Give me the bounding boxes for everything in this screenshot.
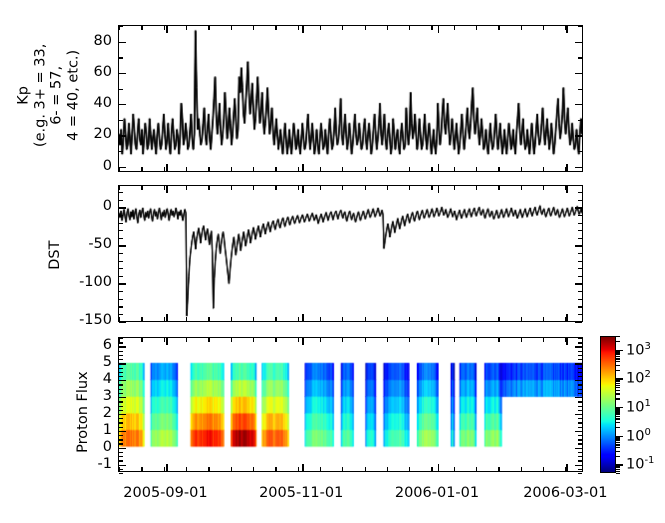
y-minor-tick	[119, 384, 123, 385]
x-major-tick	[166, 164, 167, 171]
y-minor-tick-right	[578, 359, 582, 360]
y-minor-tick	[119, 452, 123, 453]
y-minor-tick	[119, 120, 123, 121]
x-minor-tick-top	[431, 26, 432, 30]
y-minor-tick-right	[578, 355, 582, 356]
colorbar-minor-tick	[616, 393, 620, 394]
colorbar-minor-tick	[616, 387, 620, 388]
x-minor-tick-top	[409, 338, 410, 342]
colorbar-minor-tick	[616, 466, 620, 467]
x-minor-tick-top	[521, 338, 522, 342]
y-minor-tick-right	[578, 393, 582, 394]
y-major-tick	[119, 207, 126, 208]
x-minor-tick-top	[164, 186, 165, 190]
colorbar-minor-tick	[616, 411, 620, 412]
y-minor-tick-right	[578, 460, 582, 461]
y-major-tick-right	[575, 346, 582, 347]
y-minor-tick	[119, 223, 123, 224]
y-minor-tick-right	[578, 57, 582, 58]
y-major-tick-right	[575, 465, 582, 466]
x-minor-tick-top	[431, 338, 432, 342]
colorbar-minor-tick	[616, 351, 620, 352]
y-major-tick-right	[575, 321, 582, 322]
x-major-tick-top	[566, 26, 567, 33]
x-minor-tick-top	[141, 26, 142, 30]
colorbar-minor-tick	[616, 447, 620, 448]
x-minor-tick	[119, 467, 120, 471]
y-minor-tick-right	[578, 314, 582, 315]
y-minor-tick	[119, 372, 123, 373]
y-minor-tick-right	[578, 299, 582, 300]
x-minor-tick-top	[454, 26, 455, 30]
x-minor-tick-top	[387, 26, 388, 30]
y-major-tick	[119, 104, 126, 105]
colorbar-tick-exponent: 1	[644, 398, 650, 409]
colorbar-minor-tick	[616, 358, 620, 359]
x-minor-tick	[342, 467, 343, 471]
colorbar-major-tick	[616, 407, 623, 408]
x-minor-tick	[275, 317, 276, 321]
colorbar-minor-tick	[616, 365, 620, 366]
y-major-tick-right	[575, 245, 582, 246]
dst-series-canvas	[119, 186, 582, 321]
x-minor-tick	[454, 317, 455, 321]
y-minor-tick-right	[578, 261, 582, 262]
x-tick-label: 2006-03-01	[523, 486, 607, 501]
x-minor-tick	[320, 167, 321, 171]
x-minor-tick	[119, 317, 120, 321]
x-minor-tick-top	[208, 186, 209, 190]
y-minor-tick	[119, 230, 123, 231]
x-minor-tick-top	[119, 186, 120, 190]
x-major-tick-top	[566, 186, 567, 193]
y-minor-tick	[119, 435, 123, 436]
colorbar-minor-tick	[616, 352, 620, 353]
y-major-tick	[119, 431, 126, 432]
x-minor-tick	[521, 317, 522, 321]
y-minor-tick-right	[578, 268, 582, 269]
y-major-tick	[119, 321, 126, 322]
colorbar-minor-tick	[616, 422, 620, 423]
x-minor-tick	[253, 467, 254, 471]
x-minor-tick-top	[275, 186, 276, 190]
colorbar-minor-tick	[616, 416, 620, 417]
y-minor-tick	[119, 460, 123, 461]
x-minor-tick	[253, 167, 254, 171]
x-minor-tick	[498, 467, 499, 471]
colorbar-tick-label: 102	[626, 370, 651, 386]
colorbar-tick-exponent: 0	[644, 427, 650, 438]
x-major-tick-top	[438, 26, 439, 33]
y-major-tick	[119, 397, 126, 398]
y-minor-tick	[119, 439, 123, 440]
x-minor-tick	[431, 467, 432, 471]
x-minor-tick	[476, 317, 477, 321]
x-minor-tick	[476, 467, 477, 471]
y-minor-tick-right	[578, 452, 582, 453]
x-minor-tick	[365, 167, 366, 171]
x-minor-tick-top	[543, 186, 544, 190]
x-minor-tick	[320, 317, 321, 321]
x-minor-tick	[164, 467, 165, 471]
y-minor-tick-right	[578, 422, 582, 423]
dst-plot-panel	[118, 185, 583, 322]
y-minor-tick-right	[578, 338, 582, 339]
x-minor-tick-top	[409, 186, 410, 190]
kp-plot-panel	[118, 25, 583, 172]
y-minor-tick	[119, 291, 123, 292]
colorbar-tick-exponent: 3	[644, 341, 650, 352]
x-minor-tick-top	[365, 186, 366, 190]
x-minor-tick-top	[342, 26, 343, 30]
y-tick-label: -100	[66, 275, 112, 290]
y-minor-tick-right	[578, 120, 582, 121]
y-major-tick-right	[575, 414, 582, 415]
x-minor-tick	[387, 167, 388, 171]
y-minor-tick	[119, 89, 123, 90]
kp-series-canvas	[119, 26, 582, 171]
x-major-tick-top	[438, 186, 439, 193]
x-major-tick-top	[302, 338, 303, 345]
y-minor-tick-right	[578, 469, 582, 470]
x-minor-tick	[141, 317, 142, 321]
x-minor-tick	[431, 167, 432, 171]
y-minor-tick	[119, 422, 123, 423]
x-minor-tick	[342, 167, 343, 171]
x-tick-label: 2006-01-01	[395, 486, 479, 501]
y-minor-tick	[119, 368, 123, 369]
kp-axis-title-line-1: (e.g. 3+ = 33,	[32, 22, 49, 168]
y-minor-tick	[119, 306, 123, 307]
x-minor-tick-top	[298, 338, 299, 342]
y-major-tick	[119, 283, 126, 284]
y-minor-tick-right	[578, 192, 582, 193]
x-minor-tick	[208, 317, 209, 321]
colorbar-minor-tick	[616, 410, 620, 411]
colorbar-minor-tick	[616, 341, 620, 342]
x-minor-tick	[543, 317, 544, 321]
y-major-tick	[119, 73, 126, 74]
x-major-tick	[566, 164, 567, 171]
x-minor-tick	[342, 317, 343, 321]
x-minor-tick-top	[253, 186, 254, 190]
y-minor-tick	[119, 261, 123, 262]
colorbar-tick-mantissa: 10	[626, 457, 644, 473]
x-major-tick-top	[302, 26, 303, 33]
kp-axis-title-line-0: Kp	[16, 22, 33, 168]
y-minor-tick-right	[578, 427, 582, 428]
x-major-tick	[302, 464, 303, 471]
proton-flux-axis-title: Proton Flux	[75, 357, 91, 467]
y-minor-tick	[119, 192, 123, 193]
x-minor-tick-top	[543, 26, 544, 30]
colorbar-minor-tick	[616, 440, 620, 441]
x-minor-tick	[186, 467, 187, 471]
y-minor-tick-right	[578, 418, 582, 419]
x-minor-tick-top	[476, 338, 477, 342]
y-minor-tick-right	[578, 223, 582, 224]
y-minor-tick	[119, 401, 123, 402]
y-minor-tick-right	[578, 230, 582, 231]
y-minor-tick	[119, 215, 123, 216]
x-minor-tick-top	[498, 26, 499, 30]
x-major-tick-top	[166, 338, 167, 345]
x-minor-tick	[253, 317, 254, 321]
y-minor-tick	[119, 355, 123, 356]
y-minor-tick	[119, 351, 123, 352]
colorbar-minor-tick	[616, 467, 620, 468]
x-minor-tick	[298, 167, 299, 171]
x-minor-tick-top	[298, 186, 299, 190]
x-minor-tick	[231, 317, 232, 321]
y-major-tick	[119, 346, 126, 347]
y-minor-tick	[119, 151, 123, 152]
x-minor-tick	[365, 317, 366, 321]
x-minor-tick-top	[342, 338, 343, 342]
x-minor-tick-top	[342, 186, 343, 190]
y-minor-tick	[119, 276, 123, 277]
y-major-tick	[119, 380, 126, 381]
x-minor-tick	[498, 317, 499, 321]
y-minor-tick	[119, 57, 123, 58]
x-minor-tick	[231, 167, 232, 171]
colorbar-minor-tick	[616, 361, 620, 362]
y-minor-tick	[119, 314, 123, 315]
y-minor-tick	[119, 410, 123, 411]
y-minor-tick-right	[578, 456, 582, 457]
y-minor-tick	[119, 456, 123, 457]
x-minor-tick-top	[498, 186, 499, 190]
y-minor-tick-right	[578, 473, 582, 474]
x-minor-tick	[298, 317, 299, 321]
colorbar-tick-mantissa: 10	[626, 342, 644, 358]
colorbar-minor-tick	[616, 380, 620, 381]
x-major-tick	[438, 314, 439, 321]
x-major-tick-top	[566, 338, 567, 345]
x-minor-tick-top	[387, 338, 388, 342]
y-tick-label: -50	[66, 237, 112, 252]
y-minor-tick-right	[578, 406, 582, 407]
y-major-tick	[119, 42, 126, 43]
x-minor-tick-top	[387, 186, 388, 190]
x-minor-tick	[365, 467, 366, 471]
x-minor-tick	[275, 167, 276, 171]
y-minor-tick	[119, 342, 123, 343]
x-minor-tick	[141, 167, 142, 171]
x-major-tick	[566, 464, 567, 471]
x-minor-tick	[521, 167, 522, 171]
x-minor-tick-top	[231, 338, 232, 342]
colorbar-tick-exponent: -1	[644, 455, 654, 466]
x-minor-tick-top	[164, 338, 165, 342]
x-minor-tick	[186, 317, 187, 321]
x-minor-tick	[208, 167, 209, 171]
colorbar-minor-tick	[616, 336, 620, 337]
colorbar-major-tick	[616, 350, 623, 351]
y-major-tick-right	[575, 73, 582, 74]
x-minor-tick-top	[275, 338, 276, 342]
colorbar-minor-tick	[616, 427, 620, 428]
y-minor-tick	[119, 268, 123, 269]
y-minor-tick-right	[578, 200, 582, 201]
x-minor-tick	[298, 467, 299, 471]
y-minor-tick-right	[578, 384, 582, 385]
y-minor-tick	[119, 299, 123, 300]
x-minor-tick	[409, 167, 410, 171]
y-minor-tick-right	[578, 351, 582, 352]
x-major-tick-top	[166, 26, 167, 33]
y-minor-tick	[119, 443, 123, 444]
x-major-tick	[166, 464, 167, 471]
x-minor-tick-top	[320, 186, 321, 190]
x-minor-tick-top	[208, 338, 209, 342]
y-tick-label: 6	[66, 338, 112, 353]
y-tick-label: -150	[66, 313, 112, 328]
x-minor-tick-top	[231, 26, 232, 30]
x-minor-tick	[543, 467, 544, 471]
x-minor-tick-top	[119, 338, 120, 342]
x-minor-tick-top	[454, 338, 455, 342]
y-major-tick-right	[575, 363, 582, 364]
y-major-tick	[119, 245, 126, 246]
figure-canvas: 020406080 Kp (e.g. 3+ = 33, 6- = 57, 4 =…	[0, 0, 665, 523]
y-minor-tick-right	[578, 342, 582, 343]
x-minor-tick	[119, 167, 120, 171]
y-minor-tick	[119, 473, 123, 474]
x-minor-tick	[186, 167, 187, 171]
colorbar-tick-label: 103	[626, 342, 651, 358]
x-major-tick	[438, 464, 439, 471]
colorbar-major-tick	[616, 464, 623, 465]
y-minor-tick-right	[578, 26, 582, 27]
y-minor-tick-right	[578, 372, 582, 373]
y-major-tick	[119, 363, 126, 364]
y-minor-tick-right	[578, 89, 582, 90]
x-minor-tick	[498, 167, 499, 171]
x-minor-tick	[231, 467, 232, 471]
y-minor-tick-right	[578, 368, 582, 369]
x-minor-tick	[454, 467, 455, 471]
y-minor-tick	[119, 376, 123, 377]
x-minor-tick	[387, 317, 388, 321]
x-minor-tick	[543, 167, 544, 171]
y-minor-tick-right	[578, 376, 582, 377]
x-minor-tick-top	[521, 186, 522, 190]
colorbar-minor-tick	[616, 444, 620, 445]
colorbar-tick-mantissa: 10	[626, 428, 644, 444]
x-minor-tick-top	[253, 338, 254, 342]
colorbar-minor-tick	[616, 356, 620, 357]
x-minor-tick-top	[476, 186, 477, 190]
x-major-tick-top	[438, 338, 439, 345]
x-minor-tick-top	[186, 338, 187, 342]
x-major-tick	[302, 314, 303, 321]
colorbar-minor-tick	[616, 390, 620, 391]
y-minor-tick	[119, 418, 123, 419]
x-minor-tick-top	[141, 186, 142, 190]
y-major-tick-right	[575, 431, 582, 432]
x-major-tick	[566, 314, 567, 321]
x-minor-tick	[208, 467, 209, 471]
y-minor-tick	[119, 406, 123, 407]
colorbar-tick-label: 10-1	[626, 456, 654, 472]
x-minor-tick	[275, 467, 276, 471]
x-tick-label: 2005-11-01	[259, 486, 343, 501]
x-minor-tick	[387, 467, 388, 471]
kp-axis-title-line-2: 6- = 57,	[49, 22, 66, 168]
y-major-tick-right	[575, 135, 582, 136]
x-minor-tick-top	[454, 186, 455, 190]
y-major-tick	[119, 448, 126, 449]
colorbar-minor-tick	[616, 469, 620, 470]
x-minor-tick-top	[186, 26, 187, 30]
colorbar-gradient	[601, 337, 615, 472]
y-minor-tick-right	[578, 151, 582, 152]
colorbar-minor-tick	[616, 383, 620, 384]
x-major-tick	[166, 314, 167, 321]
x-minor-tick-top	[543, 338, 544, 342]
colorbar-minor-tick	[616, 456, 620, 457]
colorbar-minor-tick	[616, 354, 620, 355]
x-minor-tick-top	[431, 186, 432, 190]
x-minor-tick-top	[141, 338, 142, 342]
proton-flux-heatmap-canvas	[119, 338, 582, 471]
y-minor-tick-right	[578, 276, 582, 277]
x-minor-tick-top	[208, 26, 209, 30]
x-minor-tick-top	[476, 26, 477, 30]
y-major-tick-right	[575, 448, 582, 449]
colorbar-minor-tick	[616, 473, 620, 474]
colorbar-minor-tick	[616, 471, 620, 472]
x-minor-tick-top	[320, 338, 321, 342]
colorbar-major-tick	[616, 436, 623, 437]
x-minor-tick-top	[186, 186, 187, 190]
x-minor-tick-top	[498, 338, 499, 342]
colorbar-minor-tick	[616, 408, 620, 409]
x-minor-tick-top	[275, 26, 276, 30]
x-tick-label: 2005-09-01	[123, 486, 207, 501]
y-minor-tick-right	[578, 215, 582, 216]
x-minor-tick	[164, 167, 165, 171]
x-minor-tick-top	[298, 26, 299, 30]
colorbar-tick-label: 100	[626, 428, 651, 444]
colorbar-minor-tick	[616, 370, 620, 371]
x-minor-tick	[164, 317, 165, 321]
colorbar	[600, 336, 616, 473]
y-minor-tick-right	[578, 389, 582, 390]
y-major-tick-right	[575, 42, 582, 43]
y-major-tick	[119, 135, 126, 136]
y-major-tick-right	[575, 207, 582, 208]
colorbar-minor-tick	[616, 385, 620, 386]
x-minor-tick	[409, 467, 410, 471]
colorbar-minor-tick	[616, 398, 620, 399]
y-major-tick-right	[575, 397, 582, 398]
y-minor-tick-right	[578, 439, 582, 440]
colorbar-minor-tick	[616, 381, 620, 382]
x-minor-tick	[431, 317, 432, 321]
x-minor-tick	[454, 167, 455, 171]
y-minor-tick-right	[578, 291, 582, 292]
x-minor-tick-top	[164, 26, 165, 30]
x-minor-tick	[320, 467, 321, 471]
y-minor-tick-right	[578, 435, 582, 436]
x-minor-tick-top	[409, 26, 410, 30]
y-minor-tick-right	[578, 306, 582, 307]
x-minor-tick-top	[119, 26, 120, 30]
y-minor-tick	[119, 253, 123, 254]
colorbar-minor-tick	[616, 418, 620, 419]
